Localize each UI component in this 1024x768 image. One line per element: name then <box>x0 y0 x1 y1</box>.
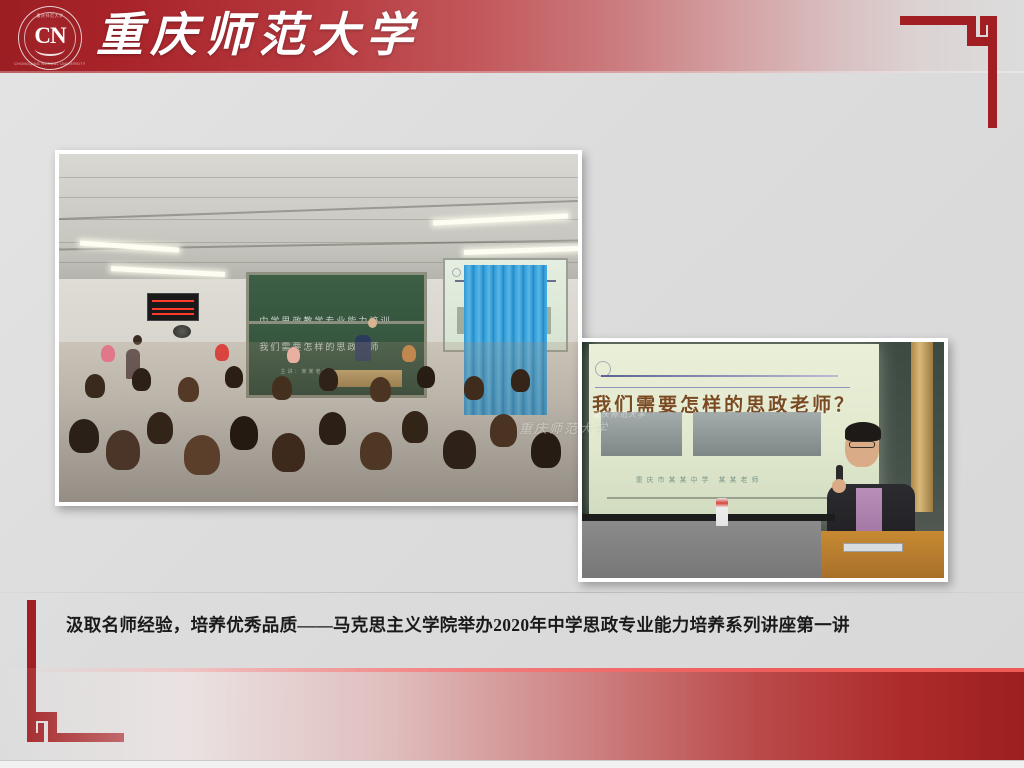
seal-monogram: CN <box>34 23 65 49</box>
lecturer-head <box>368 318 377 328</box>
university-name-title: 重庆师范大学 <box>96 3 420 69</box>
seal-top-arc-text: 重庆师范大学 <box>37 13 64 19</box>
footer-gradient-band <box>0 668 1024 760</box>
caption-divider <box>0 592 1024 593</box>
page-caption: 汲取名师经验，培养优秀品质——马克思主义学院举办2020年中学思政专业能力培养系… <box>66 612 966 637</box>
classroom-lecture-photo[interactable]: 中学思政教学专业能力培训 我们需要怎样的思政教师 主讲：某某老师 我们需要怎样的… <box>55 150 582 506</box>
university-seal-icon: 重庆师范大学 CN CHONGQING NORMAL UNIVERSITY <box>18 6 82 70</box>
footer-edge <box>0 760 1024 768</box>
page-header: 重庆师范大学 CN CHONGQING NORMAL UNIVERSITY 重庆… <box>0 0 1024 73</box>
slide-watermark: 重庆师范大学 <box>592 409 646 420</box>
speaker-hair <box>845 422 881 441</box>
classroom-photo-content: 中学思政教学专业能力培训 我们需要怎样的思政教师 主讲：某某老师 我们需要怎样的… <box>59 154 578 502</box>
slide-subtitle: 重庆市某某中学 某某老师 <box>636 475 763 485</box>
audience-seating <box>59 342 578 502</box>
corner-ornament-top-right-icon <box>900 8 1010 128</box>
speaker-photo-content: 我们需要怎样的思政老师？ 重庆市某某中学 某某老师 重庆师范大学 <box>582 342 944 578</box>
wooden-podium <box>799 531 944 578</box>
led-scrolling-sign <box>147 293 199 321</box>
speaker-podium-photo[interactable]: 我们需要怎样的思政老师？ 重庆市某某中学 某某老师 重庆师范大学 <box>578 338 948 582</box>
seal-bottom-arc-text: CHONGQING NORMAL UNIVERSITY <box>14 62 85 66</box>
wall-fan <box>173 325 191 338</box>
wall-pillar <box>911 342 933 512</box>
front-table <box>582 521 821 578</box>
water-bottle <box>716 498 728 526</box>
speaker-glasses-icon <box>849 441 875 448</box>
stage-edge-strip <box>582 514 835 521</box>
podium-nameplate <box>843 543 904 551</box>
